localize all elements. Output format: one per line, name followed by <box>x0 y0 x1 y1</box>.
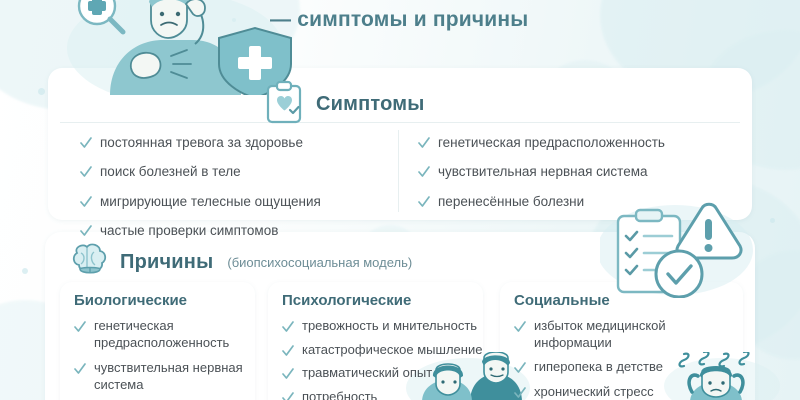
list-item-label: чувствительная нервная система <box>438 163 648 180</box>
list-item: перенесённые болезни <box>418 193 718 210</box>
list-item: гиперопека в детстве <box>514 359 714 376</box>
list-item: мигрирующие телесные ощущения <box>80 193 390 210</box>
list-item: постоянная тревога за здоровье <box>80 134 390 151</box>
list-item-label: тревожность и мнительность <box>302 318 477 335</box>
list-item: чувствительная нервная система <box>418 163 718 180</box>
check-icon <box>74 363 86 375</box>
symptoms-column-divider <box>398 130 399 212</box>
check-icon <box>418 166 430 178</box>
causes-subtitle: (биопсихосоциальная модель) <box>227 255 412 270</box>
list-item: травматический опыт <box>282 365 487 382</box>
list-item-label: хронический стресс <box>534 384 654 400</box>
symptoms-left-list: постоянная тревога за здоровье поиск бол… <box>80 134 390 251</box>
list-item: генетическая предрасположенность <box>418 134 718 151</box>
causes-header: Причины (биопсихосоциальная модель) <box>68 243 412 282</box>
list-item-label: генетическая предрасположенность <box>438 134 665 151</box>
psychological-causes-list: тревожность и мнительность катастрофичес… <box>282 318 487 400</box>
list-item-label: генетическая предрасположенность <box>94 318 249 351</box>
list-item-label: травматический опыт <box>302 365 432 382</box>
check-icon <box>80 166 92 178</box>
list-item: чувствительная нервная система <box>74 360 249 393</box>
list-item: поиск болезней в теле <box>80 163 390 180</box>
list-item-label: катастрофическое мышление <box>302 342 482 359</box>
symptoms-right-list: генетическая предрасположенность чувстви… <box>418 134 718 222</box>
list-item-label: гиперопека в детстве <box>534 359 663 376</box>
page-title-text: — симптомы и причины <box>270 8 528 32</box>
list-item-label: потребность <box>302 389 377 400</box>
list-item: генетическая предрасположенность <box>74 318 249 351</box>
check-icon <box>514 362 526 374</box>
biological-causes-list: генетическая предрасположенность чувстви… <box>74 318 249 400</box>
list-item: хронический стресс <box>514 384 714 400</box>
list-item-label: частые проверки симптомов <box>100 222 278 239</box>
check-icon <box>282 321 294 333</box>
symptoms-title: Симптомы <box>316 93 425 116</box>
check-icon <box>514 387 526 399</box>
psychological-causes-title: Психологические <box>282 292 411 309</box>
list-item: избыток медицинской информации <box>514 318 714 351</box>
list-item-label: мигрирующие телесные ощущения <box>100 193 321 210</box>
symptoms-header: Симптомы <box>262 80 425 129</box>
list-item-label: перенесённые болезни <box>438 193 584 210</box>
list-item: потребность <box>282 389 487 400</box>
check-icon <box>282 345 294 357</box>
list-item-label: избыток медицинской информации <box>534 318 714 351</box>
biological-causes-title: Биологические <box>74 292 187 309</box>
check-circle-icon <box>656 251 702 297</box>
check-icon <box>514 321 526 333</box>
check-icon <box>80 225 92 237</box>
list-item: частые проверки симптомов <box>80 222 390 239</box>
social-causes-title: Социальные <box>514 292 610 309</box>
list-item-label: чувствительная нервная система <box>94 360 249 393</box>
check-icon <box>282 368 294 380</box>
causes-title: Причины <box>120 251 213 274</box>
list-item-label: поиск болезней в теле <box>100 163 241 180</box>
check-icon <box>418 137 430 149</box>
list-item: тревожность и мнительность <box>282 318 487 335</box>
check-icon <box>282 392 294 400</box>
page-title: — симптомы и причины <box>270 2 690 38</box>
list-item-label: постоянная тревога за здоровье <box>100 134 303 151</box>
check-icon <box>74 321 86 333</box>
list-item: катастрофическое мышление <box>282 342 487 359</box>
clipboard-heart-icon <box>262 80 306 129</box>
social-causes-list: избыток медицинской информации гиперопек… <box>514 318 714 400</box>
brain-icon <box>68 243 110 282</box>
check-icon <box>80 137 92 149</box>
check-icon <box>418 196 430 208</box>
check-icon <box>80 196 92 208</box>
